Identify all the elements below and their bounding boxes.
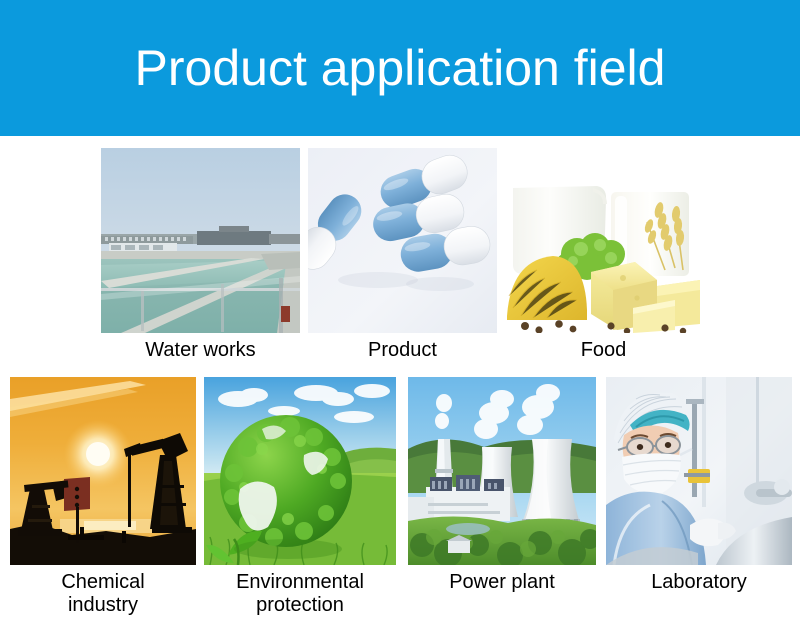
header-banner: Product application field	[0, 0, 800, 136]
lab-technician-illustration	[606, 377, 792, 565]
water-works-image	[101, 148, 300, 333]
product-image	[308, 148, 497, 333]
caption-power-plant: Power plant	[408, 571, 596, 594]
caption-laboratory: Laboratory	[606, 571, 792, 594]
environmental-protection-image	[204, 377, 396, 565]
chemical-industry-image	[10, 377, 196, 565]
application-card-food[interactable]: Food	[507, 148, 700, 333]
caption-line-2: industry	[68, 594, 138, 616]
product-application-field-page: Product application field	[0, 0, 800, 635]
application-card-power-plant[interactable]: Power plant	[408, 377, 596, 565]
laboratory-image	[606, 377, 792, 565]
caption-environmental-protection: Environmental protection	[204, 571, 396, 617]
oil-pumpjack-illustration	[10, 377, 196, 565]
caption-line-1: Environmental	[236, 571, 364, 593]
page-title: Product application field	[135, 43, 666, 93]
green-globe-illustration	[204, 377, 396, 565]
application-row-1: Water works	[0, 148, 800, 373]
application-card-chemical-industry[interactable]: Chemical industry	[10, 377, 196, 565]
application-card-environmental-protection[interactable]: Environmental protection	[204, 377, 396, 565]
water-works-illustration	[101, 148, 300, 333]
caption-line-2: protection	[256, 594, 344, 616]
application-row-2: Chemical industry	[0, 377, 800, 635]
application-card-product[interactable]: Product	[308, 148, 497, 333]
power-plant-illustration	[408, 377, 596, 565]
application-card-water-works[interactable]: Water works	[101, 148, 300, 333]
application-card-laboratory[interactable]: Laboratory	[606, 377, 792, 565]
caption-chemical-industry: Chemical industry	[10, 571, 196, 617]
capsules-illustration	[308, 148, 497, 333]
caption-water-works: Water works	[101, 339, 300, 362]
caption-product: Product	[308, 339, 497, 362]
caption-food: Food	[507, 339, 700, 362]
food-illustration	[507, 148, 700, 333]
food-image	[507, 148, 700, 333]
power-plant-image	[408, 377, 596, 565]
caption-line-1: Chemical	[61, 571, 144, 593]
